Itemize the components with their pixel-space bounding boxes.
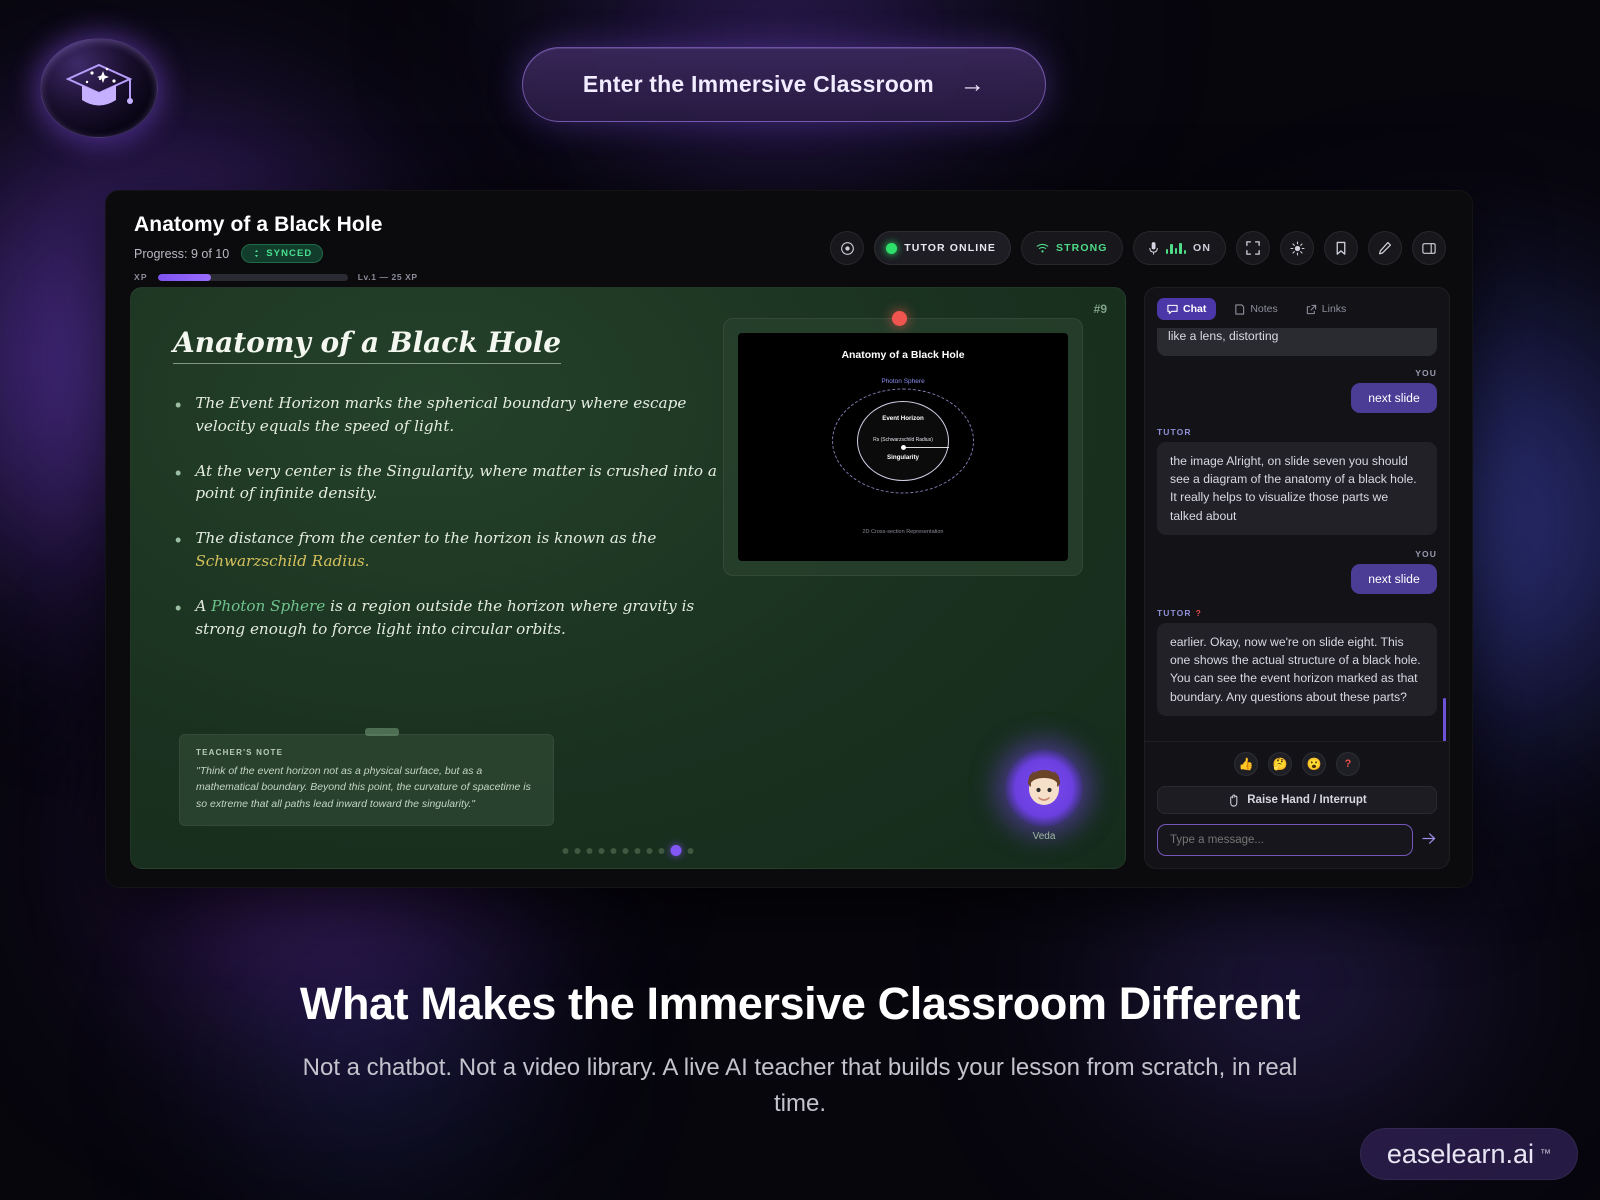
- note-tab-handle[interactable]: [365, 728, 399, 736]
- thumbs-up-icon: 👍: [1239, 757, 1254, 771]
- bullet-dot-icon: •: [175, 464, 181, 506]
- chat-footer: 👍 🤔 😮 ? Raise Hand / Interrupt: [1145, 741, 1449, 868]
- enter-classroom-label: Enter the Immersive Classroom: [583, 71, 934, 98]
- bullet-dot-icon: •: [175, 396, 181, 438]
- mic-status-badge[interactable]: ON: [1133, 231, 1226, 265]
- xp-row: XP Lv.1 — 25 XP: [134, 272, 1444, 282]
- reaction-question-button[interactable]: ?: [1336, 752, 1360, 776]
- graduation-cap-sparkle-icon: [62, 55, 136, 122]
- brightness-icon: [1290, 241, 1305, 256]
- send-icon[interactable]: [1422, 832, 1437, 848]
- tutor-status-badge[interactable]: TUTOR ONLINE: [874, 231, 1011, 265]
- xp-label: XP: [134, 272, 148, 282]
- tab-notes[interactable]: Notes: [1224, 298, 1287, 320]
- chat-message-list[interactable]: like a lens, distorting YOU next slide T…: [1145, 328, 1449, 741]
- recording-indicator-dot: [892, 311, 907, 326]
- bullet-highlight: Schwarzschild Radius.: [195, 552, 369, 570]
- pagination-dot[interactable]: [623, 848, 629, 854]
- slide-pagination[interactable]: [563, 845, 694, 856]
- black-hole-diagram: Anatomy of a Black Hole Photon Sphere Ev…: [738, 333, 1068, 561]
- pagination-dot[interactable]: [575, 848, 581, 854]
- teachers-note-text: "Think of the event horizon not as a phy…: [196, 763, 537, 812]
- chat-bubble-icon: [1167, 304, 1178, 315]
- connection-status-label: STRONG: [1056, 242, 1108, 254]
- link-icon: [1306, 304, 1317, 315]
- avatar-name: Veda: [1005, 831, 1083, 842]
- pagination-dot[interactable]: [647, 848, 653, 854]
- bullet-text: The Event Horizon marks the spherical bo…: [195, 394, 686, 435]
- chat-input-row: [1157, 824, 1437, 856]
- classroom-app-window: Anatomy of a Black Hole Progress: 9 of 1…: [105, 190, 1473, 888]
- diagram-radius-label: Rs (Schwarzschild Radius): [738, 437, 1068, 443]
- bullet-dot-icon: •: [175, 531, 181, 573]
- xp-level-label: Lv.1 — 25 XP: [358, 272, 418, 282]
- chat-message-truncated: like a lens, distorting: [1157, 328, 1437, 356]
- teachers-note-label: TEACHER'S NOTE: [196, 748, 537, 757]
- pagination-dot[interactable]: [599, 848, 605, 854]
- tab-links[interactable]: Links: [1296, 298, 1357, 320]
- pen-icon: [1378, 241, 1392, 255]
- chat-tab-bar: Chat Notes Links: [1145, 288, 1449, 328]
- record-target-icon: [840, 241, 855, 256]
- tutor-face-icon: [1018, 762, 1070, 814]
- message-input[interactable]: [1157, 824, 1413, 856]
- bullet-text: A: [195, 597, 211, 615]
- bullet-text: The distance from the center to the hori…: [195, 529, 656, 547]
- reaction-surprised-button[interactable]: 😮: [1302, 752, 1326, 776]
- reaction-bar: 👍 🤔 😮 ?: [1157, 752, 1437, 776]
- trademark-symbol: ™: [1540, 1148, 1551, 1160]
- slide-bullet-list: • The Event Horizon marks the spherical …: [175, 392, 740, 662]
- pen-button[interactable]: [1368, 231, 1402, 265]
- app-header: Anatomy of a Black Hole Progress: 9 of 1…: [106, 191, 1472, 287]
- bookmark-button[interactable]: [1324, 231, 1358, 265]
- avatar[interactable]: [1005, 749, 1083, 827]
- chat-scrollbar[interactable]: [1443, 698, 1446, 741]
- raise-hand-label: Raise Hand / Interrupt: [1247, 794, 1367, 806]
- slide-title: Anatomy of a Black Hole: [173, 326, 561, 364]
- pagination-dot[interactable]: [587, 848, 593, 854]
- bullet-text: At the very center is the Singularity, w…: [195, 462, 717, 503]
- raise-hand-button[interactable]: Raise Hand / Interrupt: [1157, 786, 1437, 814]
- app-logo[interactable]: [40, 38, 158, 138]
- layout-panel-icon: [1422, 242, 1436, 255]
- thinking-face-icon: 🤔: [1273, 757, 1288, 771]
- list-item: • The Event Horizon marks the spherical …: [175, 392, 740, 438]
- microphone-icon: [1148, 241, 1159, 256]
- arrow-right-icon: →: [960, 70, 985, 99]
- progress-text: Progress: 9 of 10: [134, 247, 229, 261]
- pagination-dot[interactable]: [563, 848, 569, 854]
- synced-label: SYNCED: [266, 248, 312, 259]
- message-author-tutor: TUTOR?: [1157, 608, 1437, 618]
- tab-chat[interactable]: Chat: [1157, 298, 1216, 320]
- record-target-button[interactable]: [830, 231, 864, 265]
- chat-panel: Chat Notes Links: [1144, 287, 1450, 869]
- diagram-caption: 2D Cross-section Representation: [738, 529, 1068, 535]
- xp-progress-bar: [158, 274, 348, 281]
- tab-chat-label: Chat: [1183, 303, 1206, 315]
- list-item: • At the very center is the Singularity,…: [175, 460, 740, 506]
- reaction-thinking-button[interactable]: 🤔: [1268, 752, 1292, 776]
- wifi-icon: [1036, 243, 1049, 254]
- bullet-dot-icon: •: [175, 599, 181, 641]
- pagination-dot[interactable]: [611, 848, 617, 854]
- diagram-singularity-label: Singularity: [738, 454, 1068, 461]
- fullscreen-icon: [1246, 241, 1260, 255]
- connection-status-badge[interactable]: STRONG: [1021, 231, 1123, 265]
- message-author-you: YOU: [1157, 549, 1437, 559]
- status-badge-synced: SYNCED: [241, 244, 323, 263]
- message-author-tutor-label: TUTOR: [1157, 608, 1192, 618]
- pagination-dot[interactable]: [635, 848, 641, 854]
- raised-hand-icon: [1227, 794, 1240, 807]
- brightness-button[interactable]: [1280, 231, 1314, 265]
- question-badge: ?: [1196, 608, 1202, 618]
- sync-icon: [252, 249, 261, 258]
- diagram-event-horizon-label: Event Horizon: [738, 415, 1068, 422]
- pagination-dot[interactable]: [659, 848, 665, 854]
- tutor-status-label: TUTOR ONLINE: [904, 242, 996, 254]
- tab-notes-label: Notes: [1250, 303, 1277, 315]
- brand-watermark: easelearn.ai ™: [1360, 1128, 1578, 1180]
- pagination-dot[interactable]: [688, 848, 694, 854]
- page-title: What Makes the Immersive Classroom Diffe…: [0, 978, 1600, 1030]
- question-mark-icon: ?: [1345, 758, 1352, 770]
- page-subtitle: Not a chatbot. Not a video library. A li…: [285, 1050, 1315, 1122]
- bullet-highlight: Photon Sphere: [211, 597, 325, 615]
- page-root: Enter the Immersive Classroom → Anatomy …: [0, 0, 1600, 1200]
- surprised-face-icon: 😮: [1307, 757, 1322, 771]
- chat-message-tutor: the image Alright, on slide seven you sh…: [1157, 442, 1437, 535]
- note-icon: [1234, 304, 1245, 315]
- layout-panel-button[interactable]: [1412, 231, 1446, 265]
- tab-links-label: Links: [1322, 303, 1347, 315]
- slide-number: #9: [1094, 302, 1107, 316]
- message-author-you: YOU: [1157, 368, 1437, 378]
- slide-diagram-frame: Anatomy of a Black Hole Photon Sphere Ev…: [723, 318, 1083, 576]
- slide-canvas[interactable]: #9 Anatomy of a Black Hole • The Event H…: [130, 287, 1126, 869]
- fullscreen-button[interactable]: [1236, 231, 1270, 265]
- pagination-dot-active[interactable]: [671, 845, 682, 856]
- diagram-photon-sphere-label: Photon Sphere: [738, 378, 1068, 385]
- radius-line: [903, 447, 949, 448]
- chat-message-user: next slide: [1351, 383, 1437, 413]
- bookmark-icon: [1335, 241, 1347, 256]
- singularity-point: [901, 445, 906, 450]
- chat-message-tutor: earlier. Okay, now we're on slide eight.…: [1157, 623, 1437, 716]
- online-dot-icon: [886, 243, 897, 254]
- diagram-title: Anatomy of a Black Hole: [738, 349, 1068, 361]
- teachers-note-panel: TEACHER'S NOTE "Think of the event horiz…: [179, 734, 554, 826]
- mic-status-label: ON: [1193, 242, 1211, 254]
- reaction-thumbs-up-button[interactable]: 👍: [1234, 752, 1258, 776]
- app-body: #9 Anatomy of a Black Hole • The Event H…: [106, 287, 1472, 887]
- message-author-tutor: TUTOR: [1157, 427, 1437, 437]
- enter-classroom-button[interactable]: Enter the Immersive Classroom →: [522, 47, 1046, 122]
- list-item: • The distance from the center to the ho…: [175, 527, 740, 573]
- brand-name: easelearn.ai: [1387, 1139, 1534, 1170]
- tutor-avatar-wrap[interactable]: Veda: [1005, 749, 1083, 842]
- audio-level-icon: [1166, 242, 1187, 254]
- classroom-toolbar: TUTOR ONLINE STRONG: [830, 231, 1446, 265]
- chat-message-user: next slide: [1351, 564, 1437, 594]
- list-item: • A Photon Sphere is a region outside th…: [175, 595, 740, 641]
